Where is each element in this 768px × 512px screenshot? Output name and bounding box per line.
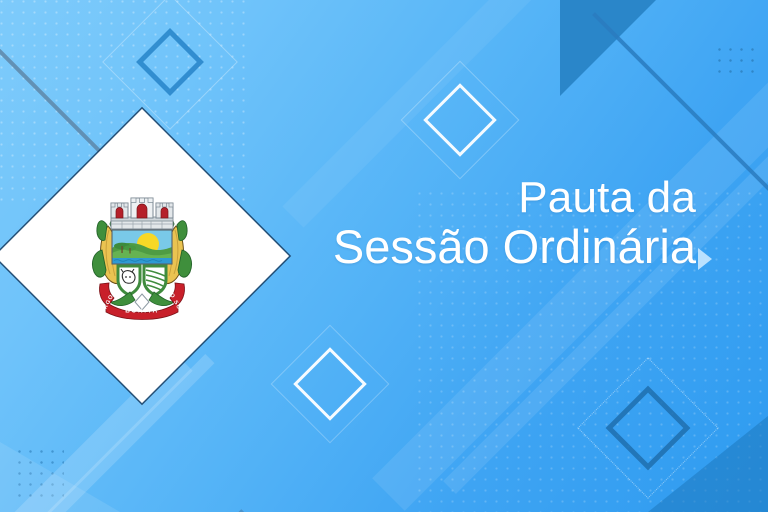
corner-triangle-bottom-left xyxy=(0,442,120,512)
banner-headline: Pauta da Sessão Ordinária xyxy=(276,176,696,271)
session-agenda-banner: BONITA LAGOA DO SUL Pauta da Sessão Ordi… xyxy=(0,0,768,512)
corner-triangle-bottom-right xyxy=(648,416,768,512)
ribbon-text: BONITA xyxy=(125,307,159,314)
headline-line-2: Sessão Ordinária xyxy=(276,223,696,271)
corner-triangle-top-right xyxy=(560,0,656,96)
sub-shield-right-field xyxy=(144,266,166,295)
diagonal-stripe xyxy=(0,354,215,512)
diamond-outline-top-center-inner xyxy=(423,83,497,157)
diamond-outline-bottom-center-inner xyxy=(293,347,367,421)
title-arrow-icon xyxy=(698,248,712,270)
mural-crown-icon xyxy=(111,198,173,229)
dot-cluster-bottom-left xyxy=(14,446,64,498)
diamond-outline-top-center-outer xyxy=(401,61,520,180)
coat-of-arms-container: BONITA LAGOA DO SUL xyxy=(38,152,246,360)
diamond-outline-bottom-right-outer xyxy=(577,357,718,498)
landscape-shield-icon xyxy=(112,230,172,264)
diamond-outline-top-left-inner xyxy=(136,28,204,96)
sub-shield-left-cow xyxy=(118,266,140,295)
diamond-outline-bottom-center-outer xyxy=(271,325,390,444)
diamond-outline-top-left-outer xyxy=(102,0,238,130)
coat-of-arms-icon: BONITA LAGOA DO SUL xyxy=(78,190,206,322)
dot-cluster-top-right xyxy=(714,44,754,74)
diamond-outline-bottom-right-inner xyxy=(606,386,691,471)
headline-line-1: Pauta da xyxy=(276,176,696,221)
